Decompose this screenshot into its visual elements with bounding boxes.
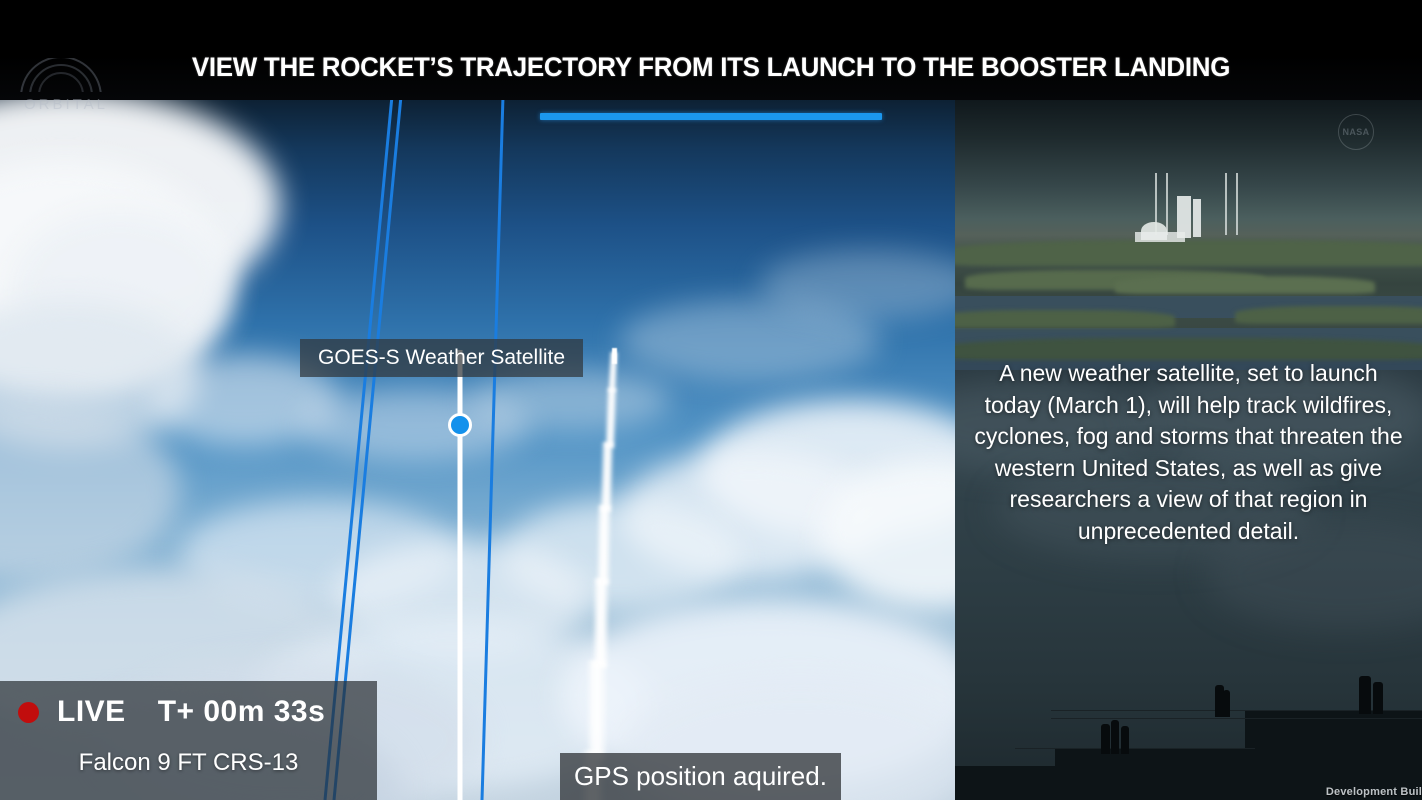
- spectator-silhouette: [1359, 676, 1371, 714]
- mission-description: A new weather satellite, set to launch t…: [955, 358, 1422, 547]
- marsh-scrub: [1115, 276, 1375, 294]
- satellite-position-marker[interactable]: [448, 413, 472, 437]
- gps-status-message: GPS position aquired.: [560, 753, 841, 800]
- vehicle-name-label: Falcon 9 FT CRS-13: [0, 749, 377, 777]
- launch-service-tower: [1193, 199, 1201, 237]
- header-bar: VIEW THE ROCKET’S TRAJECTORY FROM ITS LA…: [0, 0, 1422, 100]
- launch-pad-camera-feed[interactable]: NASA: [955, 100, 1422, 370]
- satellite-label: GOES-S Weather Satellite: [300, 339, 583, 377]
- live-row: LIVE T+ 00m 33s: [18, 695, 325, 729]
- cloud: [470, 370, 670, 430]
- live-status-panel: LIVE T+ 00m 33s Falcon 9 FT CRS-13: [0, 681, 377, 800]
- building-roof: [955, 766, 1075, 800]
- live-badge-label: LIVE: [57, 695, 126, 729]
- roof-railing: [1051, 718, 1422, 719]
- marsh-scrub: [955, 240, 1422, 266]
- page-title: VIEW THE ROCKET’S TRAJECTORY FROM ITS LA…: [28, 52, 1393, 83]
- marsh-scrub: [955, 310, 1175, 328]
- app-stage: GOES-S Weather Satellite LIVE T+ 00m 33s…: [0, 0, 1422, 800]
- live-indicator-icon: [18, 702, 39, 723]
- timeline-progress-track[interactable]: [540, 113, 882, 120]
- building-roof: [1055, 748, 1255, 800]
- pad-lightning-tower: [1225, 173, 1227, 235]
- spectator-silhouette: [1223, 690, 1230, 717]
- roof-railing: [1015, 748, 1255, 749]
- marsh-scrub: [1235, 306, 1422, 324]
- nasa-logo-icon: NASA: [1338, 114, 1374, 150]
- development-build-watermark: Development Buil: [1326, 786, 1422, 798]
- spectator-silhouette: [1111, 720, 1119, 754]
- timeline-progress-fill: [540, 113, 882, 120]
- pad-lightning-tower: [1166, 173, 1168, 235]
- main-launch-video[interactable]: GOES-S Weather Satellite LIVE T+ 00m 33s…: [0, 100, 955, 800]
- spectator-silhouette: [1101, 724, 1110, 754]
- spectator-silhouette: [1373, 682, 1383, 714]
- header-background: [0, 0, 1422, 100]
- pad-lightning-tower: [1236, 173, 1238, 235]
- pad-building: [1135, 232, 1185, 242]
- mission-clock: T+ 00m 33s: [158, 695, 326, 729]
- side-info-panel: NASA A new weather satellite, set to lau…: [955, 100, 1422, 800]
- marsh-scrub: [955, 338, 1422, 360]
- spectator-silhouette: [1121, 726, 1129, 754]
